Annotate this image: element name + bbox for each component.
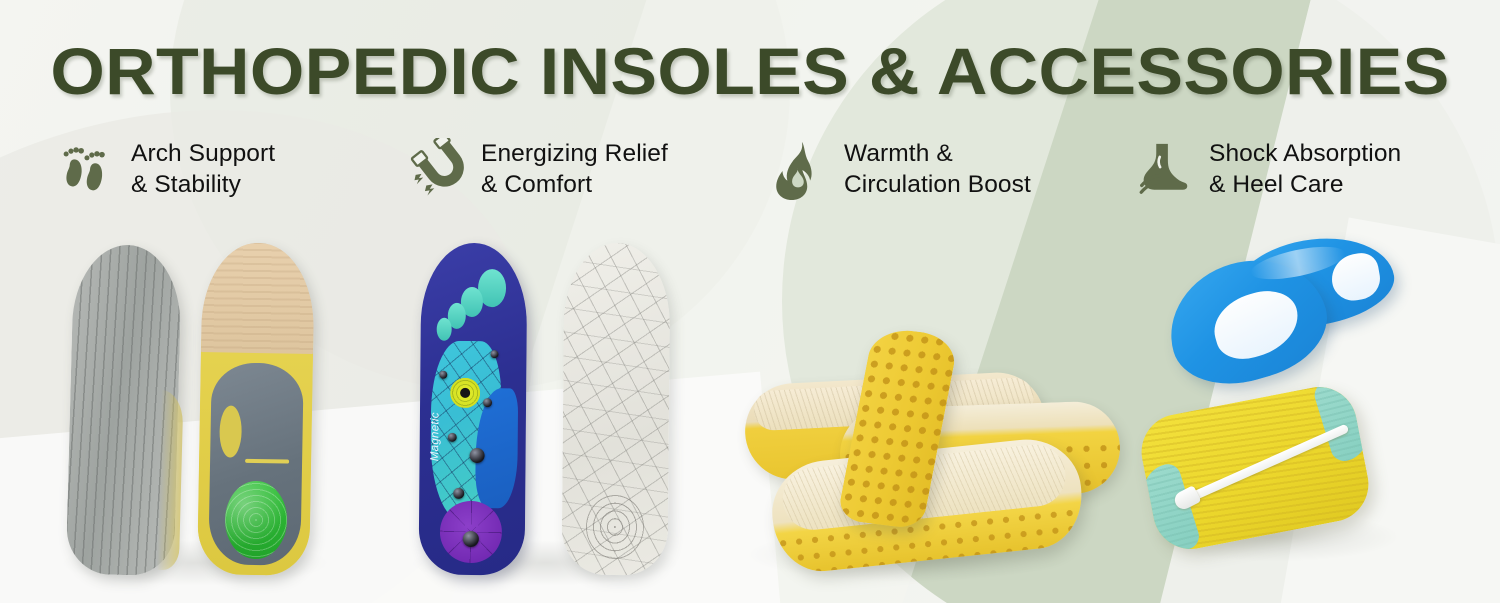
white-textured-insole bbox=[562, 243, 671, 576]
magnetic-stud bbox=[483, 398, 492, 407]
magnetic-stud bbox=[448, 433, 457, 442]
magnetic-stud bbox=[470, 448, 485, 463]
magnetic-stud bbox=[453, 488, 464, 499]
insole-toe-fabric bbox=[201, 242, 315, 363]
magnetic-print-label: Magnetic bbox=[429, 412, 441, 461]
magnetic-toe-pad bbox=[437, 318, 452, 341]
promotional-banner: ORTHOPEDIC INSOLES & ACCESSORIES Arch Su… bbox=[0, 0, 1500, 603]
gray-ribbed-insole bbox=[66, 244, 183, 577]
product-image-stage: Magnetic bbox=[0, 0, 1500, 603]
magnetic-stud bbox=[463, 531, 479, 547]
pouch-zipper bbox=[1180, 423, 1350, 505]
insole-rib bbox=[245, 459, 289, 464]
pouch-end-panel-left bbox=[1136, 461, 1202, 556]
magnetic-stud bbox=[439, 371, 447, 379]
beige-yellow-arch-insole bbox=[197, 242, 315, 576]
magnetic-yellow-disc bbox=[450, 378, 480, 408]
pouch-end-panel-right bbox=[1311, 380, 1373, 464]
magnetic-acupressure-insole: Magnetic bbox=[419, 243, 528, 576]
magnetic-stud bbox=[490, 350, 498, 358]
insole-heel-ring-pattern bbox=[586, 495, 645, 560]
